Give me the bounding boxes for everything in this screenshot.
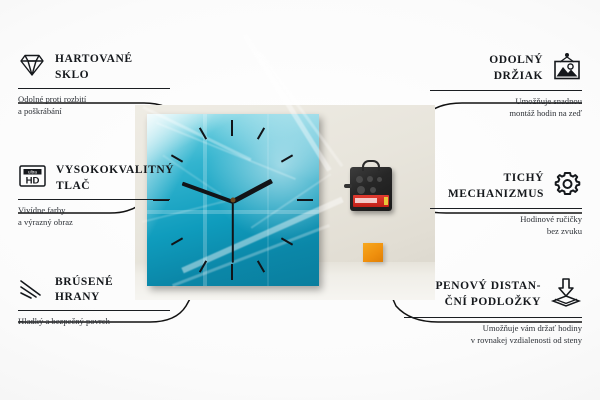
divider — [18, 199, 170, 200]
divider — [430, 208, 582, 209]
divider — [18, 310, 170, 311]
feature-title: HARTOVANÉ SKLO — [55, 52, 133, 82]
feature-title: TICHÝ MECHANIZMUS — [448, 171, 544, 201]
feature-title: BRÚSENÉ HRANY — [55, 275, 113, 305]
movement-hanger-hook — [362, 160, 380, 171]
feature-title: ODOLNÝ DRŽIAK — [489, 53, 543, 83]
wall-hanger-icon — [552, 52, 582, 85]
divider — [430, 90, 582, 91]
clock-movement-mechanism — [350, 167, 392, 211]
feature-hardened-glass: HARTOVANÉ SKLO Odolné proti rozbití a po… — [18, 52, 178, 117]
feature-title: VYSOKOKVALITNÝ TLAČ — [56, 163, 174, 193]
svg-text:ultra: ultra — [28, 170, 37, 175]
clock-second-hand — [232, 201, 234, 263]
feature-ground-edges: BRÚSENÉ HRANY Hladký a bezpečný povrch — [18, 275, 180, 328]
feature-description: Odolné proti rozbití a poškrábání — [18, 93, 178, 117]
foam-spacer-icon — [550, 277, 582, 312]
foam-spacer-pad — [363, 243, 383, 262]
feature-silent-mechanism: TICHÝ MECHANIZMUS Hodinové ručičky bez z… — [424, 170, 582, 237]
ultra-hd-icon: ultra HD — [18, 163, 47, 194]
diamond-icon — [18, 52, 46, 83]
movement-shaft — [344, 184, 352, 188]
feature-title: PENOVÝ DISTAN- ČNÍ PODLOŽKY — [435, 279, 541, 309]
feature-description: Umožňuje snadnou montáž hodin na zeď — [424, 95, 582, 119]
feature-description: Hladký a bezpečný povrch — [18, 315, 180, 327]
feature-high-quality-print: ultra HD VYSOKOKVALITNÝ TLAČ Vivídne far… — [18, 163, 178, 228]
feature-description: Vivídne farby a výrazný obraz — [18, 204, 178, 228]
ground-edges-icon — [18, 276, 46, 305]
gear-icon — [553, 170, 582, 203]
product-feature-infographic: HARTOVANÉ SKLO Odolné proti rozbití a po… — [0, 0, 600, 400]
feature-foam-spacers: PENOVÝ DISTAN- ČNÍ PODLOŽKY Umožňuje vám… — [398, 277, 582, 346]
product-photo — [135, 105, 435, 300]
svg-text:HD: HD — [26, 175, 40, 186]
divider — [404, 317, 582, 318]
movement-battery — [353, 195, 389, 207]
feature-description: Hodinové ručičky bez zvuku — [424, 213, 582, 237]
clock-center-hub — [231, 198, 236, 203]
feature-description: Umožňuje vám držať hodiny v rovnakej vzd… — [398, 322, 582, 346]
feature-durable-hanger: ODOLNÝ DRŽIAK Umožňuje snadnou montáž ho… — [424, 52, 582, 119]
divider — [18, 88, 170, 89]
